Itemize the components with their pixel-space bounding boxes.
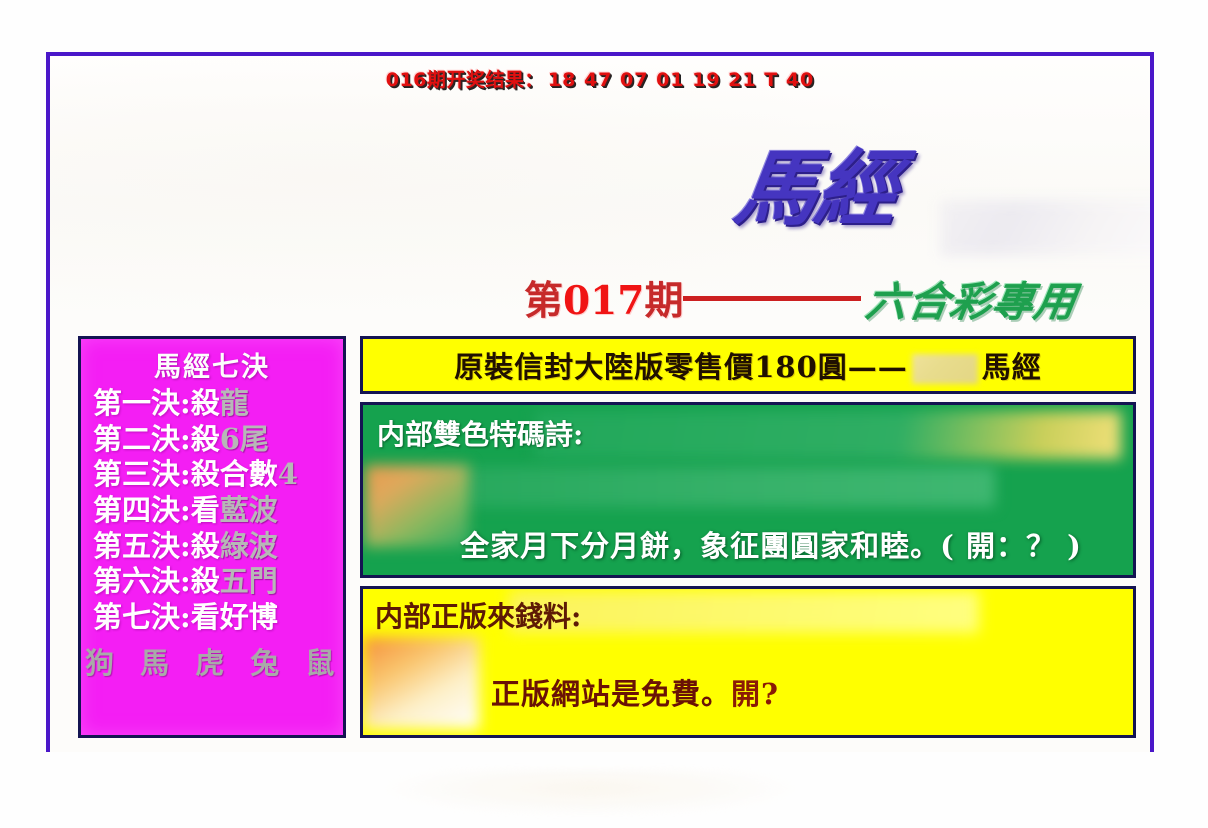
decision-label-4: 第四決:看 [93,493,220,527]
blurred-mask-logo-right [940,200,1150,256]
poster-body: 馬經七決 第一決:殺龍 第二決:殺6尾 第三決:殺合數4 第四決:看藍波 第五決… [50,328,1150,752]
decision-label-7: 第七決:看好博 [93,600,278,634]
poster-frame: 016期开奖结果：18 47 07 01 19 21 T 40 馬經 第017期… [46,52,1154,752]
right-content-stack: 原裝信封大陸版零售價180圓——馬經 内部雙色特碼詩: 全家月下分月餅，象征團圓… [360,336,1136,738]
zodiac-row: 狗 馬 虎 兔 鼠 [85,640,339,682]
lottery-type-title: 六合彩專用 [863,268,1083,328]
decision-row-3: 第三決:殺合數4 [85,457,339,493]
price-text-before: 原裝信封大陸版零售價180圓—— [454,350,908,384]
decision-value-2: 6尾 [220,422,269,456]
blurred-mask-yellow-left [363,637,479,729]
decision-value-6: 五門 [220,564,278,598]
seven-decisions-title: 馬經七決 [85,345,339,384]
special-code-poem-panel: 内部雙色特碼詩: 全家月下分月餅，象征團圓家和睦。( 開：？ ) [360,402,1136,578]
draw-results-label: 016期开奖结果： [386,69,544,91]
decision-label-1: 第一決:殺 [93,386,220,420]
decision-row-6: 第六決:殺五門 [85,564,339,600]
page-root: 016期开奖结果：18 47 07 01 19 21 T 40 馬經 第017期… [0,0,1208,828]
money-tip-panel: 内部正版來錢料: 正版網站是免費。開? [360,586,1136,738]
footer-watermark [380,770,800,816]
money-tip-main: 正版網站是免費。 [491,677,731,711]
decision-row-1: 第一決:殺龍 [85,386,339,422]
decision-value-1: 龍 [220,386,249,420]
decision-row-7: 第七決:看好博 [85,600,339,636]
decision-row-2: 第二決:殺6尾 [85,422,339,458]
blurred-mask-green-middle [435,467,995,507]
blurred-mask-price [912,354,978,384]
decision-value-4: 藍波 [220,493,278,527]
issue-prefix: 第 [524,278,563,324]
issue-row: 第017期 六合彩專用 [524,270,1150,326]
draw-results-line: 016期开奖结果：18 47 07 01 19 21 T 40 [50,65,1150,92]
money-tip-text: 正版網站是免費。開? [491,671,779,713]
draw-results-numbers: 18 47 07 01 19 21 T 40 [548,69,814,91]
money-tip-label: 内部正版來錢料: [363,595,1133,635]
price-banner: 原裝信封大陸版零售價180圓——馬經 [360,336,1136,394]
seven-decisions-panel: 馬經七決 第一決:殺龍 第二決:殺6尾 第三決:殺合數4 第四決:看藍波 第五決… [78,336,346,738]
decision-label-6: 第六決:殺 [93,564,220,598]
money-tip-kai: 開? [731,677,779,711]
price-banner-text: 原裝信封大陸版零售價180圓——馬經 [454,344,1042,386]
decision-label-2: 第二決:殺 [93,422,220,456]
decision-row-5: 第五決:殺綠波 [85,529,339,565]
decision-value-3: 4 [278,457,298,491]
issue-suffix: 期 [644,278,683,324]
issue-number: 017 [563,278,644,324]
decision-label-5: 第五決:殺 [93,529,220,563]
poster-header: 016期开奖结果：18 47 07 01 19 21 T 40 馬經 第017期… [50,56,1150,328]
special-code-poem-label: 内部雙色特碼詩: [363,413,1133,453]
price-text-after: 馬經 [982,350,1042,384]
decision-row-4: 第四決:看藍波 [85,493,339,529]
special-code-poem-verse: 全家月下分月餅，象征團圓家和睦。( 開：？ ) [363,523,1133,565]
decision-value-5: 綠波 [220,529,278,563]
decision-label-3: 第三決:殺合數 [93,457,278,491]
issue-divider-rule [683,296,861,301]
brand-logo: 馬經 [730,148,902,230]
issue-label: 第017期 [524,270,683,326]
